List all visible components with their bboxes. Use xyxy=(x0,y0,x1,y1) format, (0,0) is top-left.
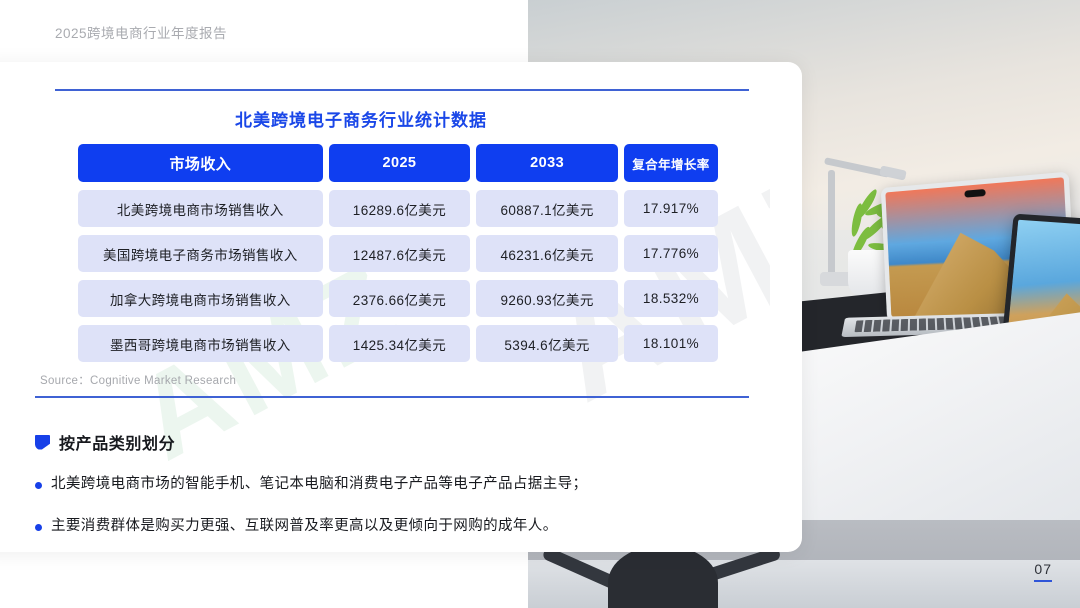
cell-cagr: 17.917% xyxy=(624,190,718,227)
column-header-market: 市场收入 xyxy=(78,144,323,182)
section-heading-label: 按产品类别划分 xyxy=(59,430,175,454)
cell-2033: 9260.93亿美元 xyxy=(476,280,618,317)
list-item: 主要消费群体是购买力更强、互联网普及率更高以及更倾向于网购的成年人。 xyxy=(35,517,735,537)
cell-cagr: 18.101% xyxy=(624,325,718,362)
flag-marker-icon xyxy=(35,435,50,450)
table-row: 美国跨境电子商务市场销售收入 12487.6亿美元 46231.6亿美元 17.… xyxy=(78,235,718,272)
table-header-row: 市场收入 2025 2033 复合年增长率 xyxy=(78,144,718,182)
card-title: 北美跨境电子商务行业统计数据 xyxy=(0,106,802,131)
source-label: Source：Cognitive Market Research xyxy=(40,372,236,388)
cell-2025: 1425.34亿美元 xyxy=(329,325,471,362)
document-header-label: 2025跨境电商行业年度报告 xyxy=(55,22,227,42)
cell-2033: 60887.1亿美元 xyxy=(476,190,618,227)
page-number: 07 xyxy=(1034,561,1052,582)
slide-canvas: 2025跨境电商行业年度报告 AMZ AMZ 北美跨境电子商务行业统计数据 市场… xyxy=(0,0,1080,608)
divider-top xyxy=(55,89,749,91)
cell-market: 加拿大跨境电商市场销售收入 xyxy=(78,280,323,317)
divider-bottom xyxy=(35,396,749,398)
cell-2025: 12487.6亿美元 xyxy=(329,235,471,272)
column-header-cagr: 复合年增长率 xyxy=(624,144,718,182)
section-heading: 按产品类别划分 xyxy=(35,430,175,454)
content-card: AMZ AMZ 北美跨境电子商务行业统计数据 市场收入 2025 2033 复合… xyxy=(0,62,802,552)
cell-market: 墨西哥跨境电商市场销售收入 xyxy=(78,325,323,362)
bullet-text: 主要消费群体是购买力更强、互联网普及率更高以及更倾向于网购的成年人。 xyxy=(51,517,558,537)
cell-market: 美国跨境电子商务市场销售收入 xyxy=(78,235,323,272)
bullet-list: 北美跨境电商市场的智能手机、笔记本电脑和消费电子产品等电子产品占据主导； 主要消… xyxy=(35,475,735,558)
list-item: 北美跨境电商市场的智能手机、笔记本电脑和消费电子产品等电子产品占据主导； xyxy=(35,475,735,495)
cell-cagr: 17.776% xyxy=(624,235,718,272)
table-row: 北美跨境电商市场销售收入 16289.6亿美元 60887.1亿美元 17.91… xyxy=(78,190,718,227)
column-header-2025: 2025 xyxy=(329,144,471,182)
column-header-2033: 2033 xyxy=(476,144,618,182)
bullet-dot-icon xyxy=(35,524,42,531)
cell-2033: 5394.6亿美元 xyxy=(476,325,618,362)
cell-2025: 16289.6亿美元 xyxy=(329,190,471,227)
table-row: 墨西哥跨境电商市场销售收入 1425.34亿美元 5394.6亿美元 18.10… xyxy=(78,325,718,362)
table-row: 加拿大跨境电商市场销售收入 2376.66亿美元 9260.93亿美元 18.5… xyxy=(78,280,718,317)
cell-cagr: 18.532% xyxy=(624,280,718,317)
bullet-dot-icon xyxy=(35,482,42,489)
bullet-text: 北美跨境电商市场的智能手机、笔记本电脑和消费电子产品等电子产品占据主导； xyxy=(51,475,587,495)
laptop-camera-notch-icon xyxy=(964,189,986,198)
cell-2033: 46231.6亿美元 xyxy=(476,235,618,272)
cell-market: 北美跨境电商市场销售收入 xyxy=(78,190,323,227)
statistics-table: 市场收入 2025 2033 复合年增长率 北美跨境电商市场销售收入 16289… xyxy=(78,144,718,370)
cell-2025: 2376.66亿美元 xyxy=(329,280,471,317)
